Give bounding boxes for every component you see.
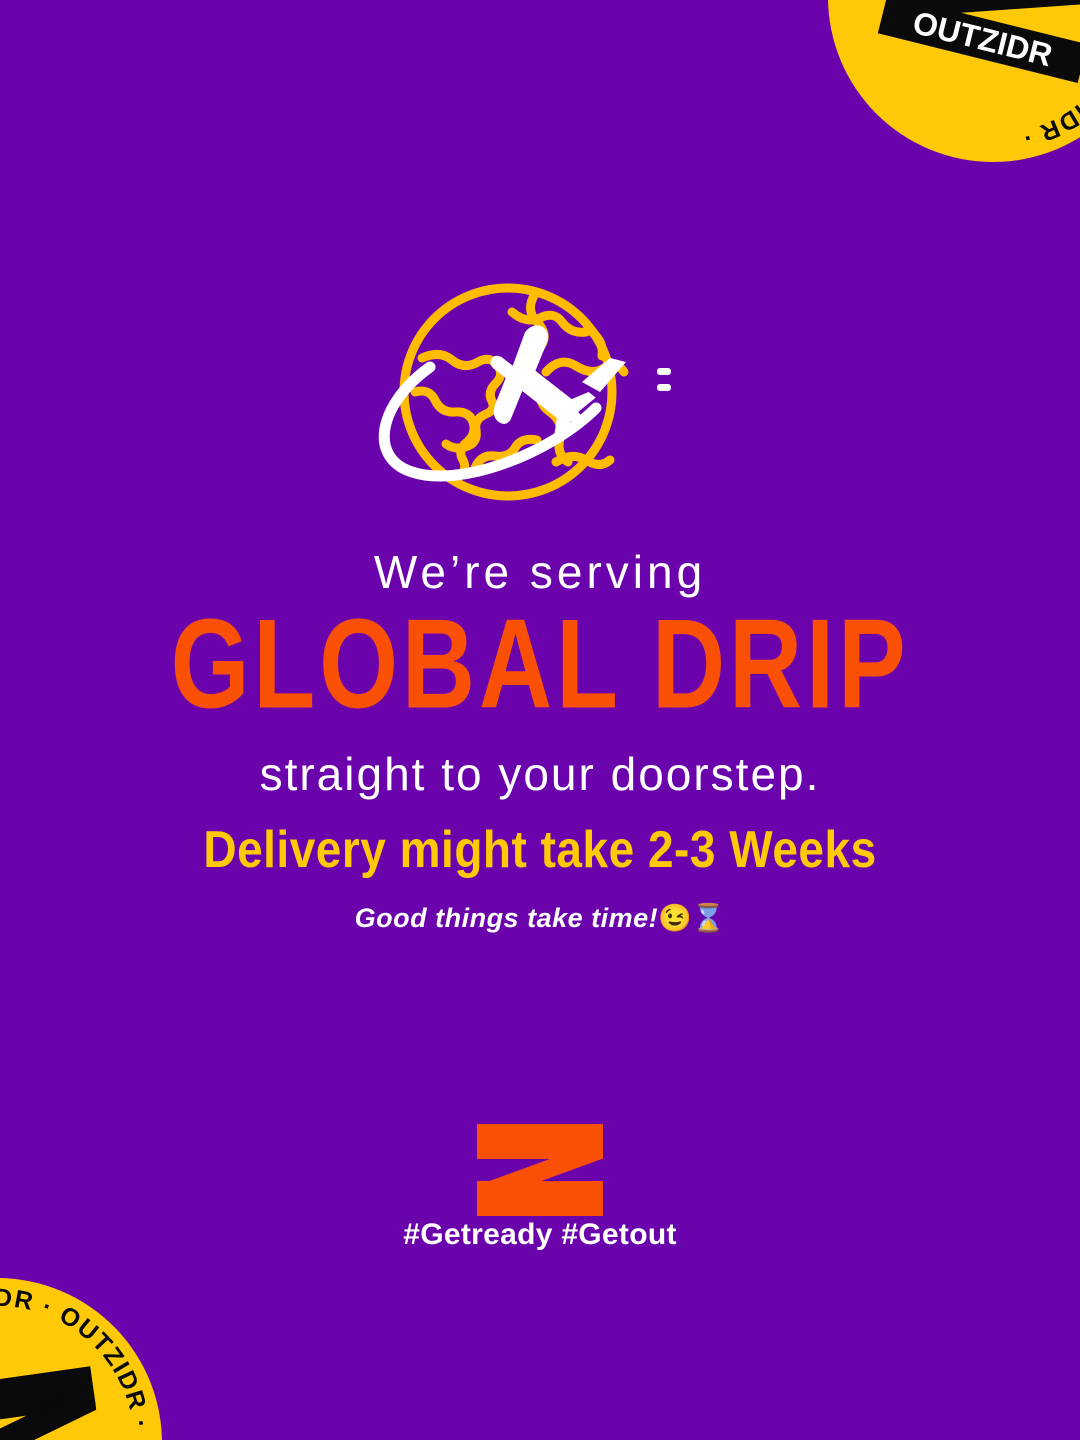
headline-eyebrow: We’re serving	[0, 548, 1080, 596]
outzidr-z-logo-icon: OUTZIDR	[0, 1366, 108, 1440]
delivery-reassurance-line: Good things take time!😉⌛	[0, 902, 1080, 934]
promo-poster: OUTZIDR · OUTZIDR · OUTZIDR · OUTZIDR · …	[0, 0, 1080, 1440]
footer-hashtags: #Getready #Getout	[0, 1218, 1080, 1252]
brand-stamp-top-right: OUTZIDR · OUTZIDR · OUTZIDR · OUTZIDR · …	[793, 0, 1080, 197]
headline-subtitle: straight to your doorstep.	[0, 750, 1080, 798]
delivery-reassurance-text: Good things take time!	[355, 903, 659, 933]
headline-title: GLOBAL DRIP	[32, 601, 1047, 728]
footer-z-bottom-bar	[477, 1181, 603, 1216]
globe-airplane-svg	[360, 272, 720, 512]
stamp-inner-logo-bottom-left: OUTZIDR	[0, 1366, 108, 1440]
wink-hourglass-emoji: 😉⌛	[658, 903, 725, 933]
headline-block: We’re serving GLOBAL DRIP straight to yo…	[0, 548, 1080, 799]
footer-z-logo-icon	[477, 1124, 603, 1216]
delivery-notice-block: Delivery might take 2-3 Weeks Good thing…	[0, 822, 1080, 934]
globe-airplane-illustration	[360, 272, 720, 512]
brand-stamp-bottom-left: OUTZIDR · OUTZIDR · OUTZIDR · OUTZIDR · …	[0, 1257, 183, 1440]
delivery-notice: Delivery might take 2-3 Weeks	[0, 819, 1080, 879]
